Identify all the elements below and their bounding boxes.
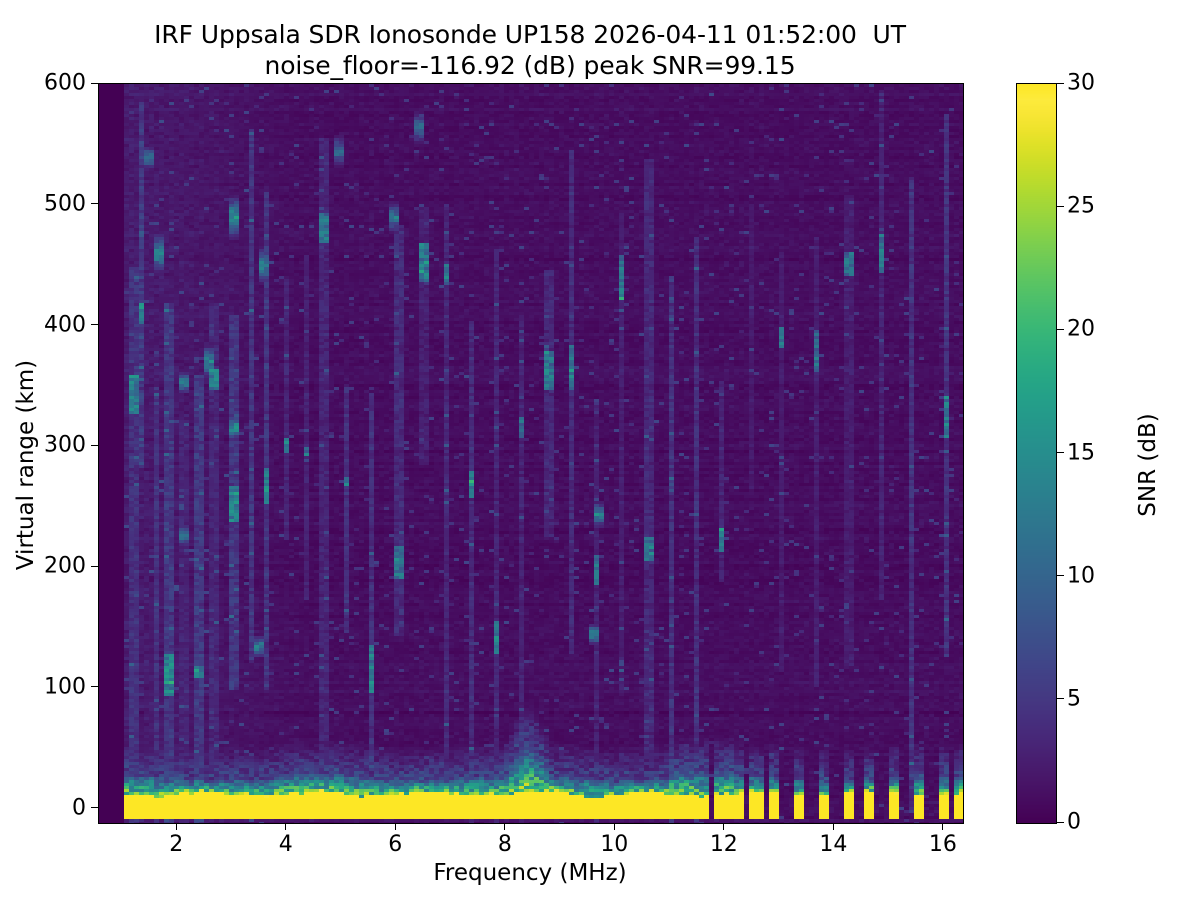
colorbar-tick-label: 20 (1067, 317, 1095, 342)
colorbar-gradient (1017, 84, 1056, 823)
x-tick-label: 2 (146, 832, 206, 857)
colorbar-label: SNR (dB) (1135, 255, 1161, 675)
colorbar-tick-mark (1057, 575, 1064, 576)
x-tick-label: 10 (584, 832, 644, 857)
x-tick-mark (395, 823, 396, 830)
x-tick-mark (614, 823, 615, 830)
ionogram-heatmap[interactable] (99, 84, 963, 823)
x-tick-mark (942, 823, 943, 830)
y-tick-mark (91, 203, 98, 204)
colorbar-tick-label: 0 (1067, 810, 1081, 835)
colorbar-tick-mark (1057, 206, 1064, 207)
x-tick-mark (176, 823, 177, 830)
x-tick-mark (723, 823, 724, 830)
colorbar[interactable] (1016, 83, 1057, 824)
colorbar-tick-label: 10 (1067, 563, 1095, 588)
x-tick-mark (504, 823, 505, 830)
x-tick-mark (833, 823, 834, 830)
y-tick-mark (91, 566, 98, 567)
x-tick-mark (285, 823, 286, 830)
title-line-1: IRF Uppsala SDR Ionosonde UP158 2026-04-… (0, 20, 1060, 51)
y-tick-mark (91, 324, 98, 325)
colorbar-tick-mark (1057, 329, 1064, 330)
ionogram-figure: IRF Uppsala SDR Ionosonde UP158 2026-04-… (0, 0, 1200, 900)
colorbar-tick-mark (1057, 452, 1064, 453)
y-tick-mark (91, 83, 98, 84)
x-tick-label: 8 (475, 832, 535, 857)
x-tick-label: 16 (913, 832, 973, 857)
colorbar-tick-label: 25 (1067, 194, 1095, 219)
x-tick-label: 12 (694, 832, 754, 857)
figure-title: IRF Uppsala SDR Ionosonde UP158 2026-04-… (0, 20, 1060, 81)
colorbar-tick-label: 30 (1067, 71, 1095, 96)
y-tick-mark (91, 686, 98, 687)
colorbar-tick-label: 5 (1067, 686, 1081, 711)
y-axis-label: Virtual range (km) (13, 95, 39, 835)
y-tick-mark (91, 807, 98, 808)
ionogram-plot-area[interactable] (98, 83, 964, 824)
x-axis-label: Frequency (MHz) (98, 860, 962, 886)
colorbar-tick-label: 15 (1067, 440, 1095, 465)
colorbar-tick-mark (1057, 822, 1064, 823)
title-line-2: noise_floor=-116.92 (dB) peak SNR=99.15 (0, 51, 1060, 82)
colorbar-tick-mark (1057, 83, 1064, 84)
x-tick-label: 4 (256, 832, 316, 857)
y-tick-mark (91, 445, 98, 446)
x-tick-label: 14 (803, 832, 863, 857)
colorbar-tick-mark (1057, 698, 1064, 699)
x-tick-label: 6 (365, 832, 425, 857)
